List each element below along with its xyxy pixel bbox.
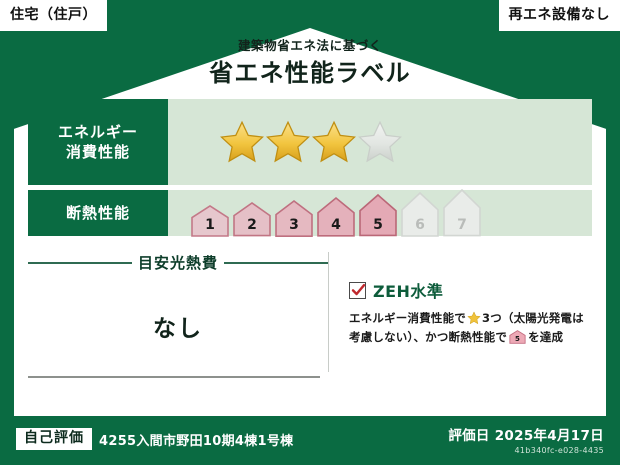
row-insulation-performance: 断熱性能 1234567 (28, 190, 592, 236)
inline-house-level-icon: 5 (509, 330, 526, 344)
zeh-panel: ZEH水準 エネルギー消費性能で 3つ（太陽光発電は考慮しない）、かつ断熱性能で… (329, 252, 592, 400)
zeh-desc-part1: エネルギー消費性能で (349, 311, 466, 325)
footer-left: 自己評価 4255入間市野田10期4棟1号棟 (16, 428, 293, 450)
row-label-energy-consumption: エネルギー 消費性能 (28, 99, 168, 185)
utility-cost-bottom-rule (28, 376, 320, 378)
inline-star-icon (467, 311, 481, 325)
utility-cost-header: 目安光熱費 (28, 252, 328, 273)
house-icon (316, 196, 356, 238)
rating-rows: エネルギー 消費性能 断熱性能 1234567 (28, 99, 592, 241)
star-empty-icon (358, 120, 402, 164)
evaluation-id: 41b340fc-e028-4435 (448, 446, 604, 455)
page-title: 省エネ性能ラベル (0, 61, 620, 85)
property-address: 4255入間市野田10期4棟1号棟 (99, 430, 293, 449)
house-icon (442, 188, 482, 238)
row-label-insulation: 断熱性能 (28, 190, 168, 236)
star-filled-icon (266, 120, 310, 164)
house-icon (400, 191, 440, 238)
house-icon (274, 199, 314, 238)
energy-performance-label: 住宅（住戸） 再エネ設備なし 建築物省エネ法に基づく 省エネ性能ラベル エネルギ… (0, 0, 620, 465)
rule-right (224, 262, 328, 264)
utility-cost-title: 目安光熱費 (138, 252, 218, 273)
lower-section: 目安光熱費 なし ZEH水準 エネルギー消費性能で 3つ（太陽光発電は考慮しない… (28, 252, 592, 400)
star-filled-icon (220, 120, 264, 164)
insulation-level-4: 4 (316, 196, 356, 238)
insulation-level-3: 3 (274, 199, 314, 238)
check-icon (351, 283, 366, 298)
row-label-energy-line1: エネルギー (58, 122, 138, 142)
zeh-title: ZEH水準 (373, 278, 443, 302)
header-subtitle: 建築物省エネ法に基づく (0, 40, 620, 53)
evaluation-date-value: 2025年4月17日 (495, 428, 604, 444)
insulation-level-1: 1 (190, 204, 230, 238)
star-rating (168, 120, 402, 164)
house-icon (232, 201, 272, 238)
self-evaluation-badge: 自己評価 (16, 428, 92, 450)
insulation-level-scale: 1234567 (168, 188, 482, 238)
evaluation-date-label: 評価日 (448, 428, 489, 444)
rule-left (28, 262, 132, 264)
badge-renewable-energy: 再エネ設備なし (499, 0, 620, 31)
row-value-energy-consumption (168, 99, 592, 185)
badge-building-type: 住宅（住戸） (0, 0, 107, 31)
insulation-level-2: 2 (232, 201, 272, 238)
utility-cost-panel: 目安光熱費 なし (28, 252, 328, 400)
row-energy-consumption: エネルギー 消費性能 (28, 99, 592, 185)
insulation-level-7: 7 (442, 188, 482, 238)
zeh-checkbox (349, 282, 366, 299)
zeh-desc-part3: を達成 (528, 330, 563, 344)
insulation-level-6: 6 (400, 191, 440, 238)
insulation-level-5: 5 (358, 193, 398, 237)
row-label-insulation-text: 断熱性能 (66, 203, 130, 223)
zeh-description: エネルギー消費性能で 3つ（太陽光発電は考慮しない）、かつ断熱性能で 5 を達成 (349, 309, 592, 346)
star-filled-icon (312, 120, 356, 164)
label-header: 建築物省エネ法に基づく 省エネ性能ラベル (0, 40, 620, 85)
evaluation-date: 評価日 2025年4月17日 (448, 424, 604, 444)
footer-right: 評価日 2025年4月17日 41b340fc-e028-4435 (448, 424, 604, 455)
house-icon (190, 204, 230, 238)
label-footer: 自己評価 4255入間市野田10期4棟1号棟 評価日 2025年4月17日 41… (0, 416, 620, 465)
zeh-title-row: ZEH水準 (349, 278, 592, 302)
svg-text:5: 5 (515, 334, 520, 342)
row-value-insulation: 1234567 (168, 190, 592, 236)
utility-cost-value: なし (28, 309, 328, 343)
house-icon (358, 193, 398, 237)
row-label-energy-line2: 消費性能 (66, 142, 130, 162)
